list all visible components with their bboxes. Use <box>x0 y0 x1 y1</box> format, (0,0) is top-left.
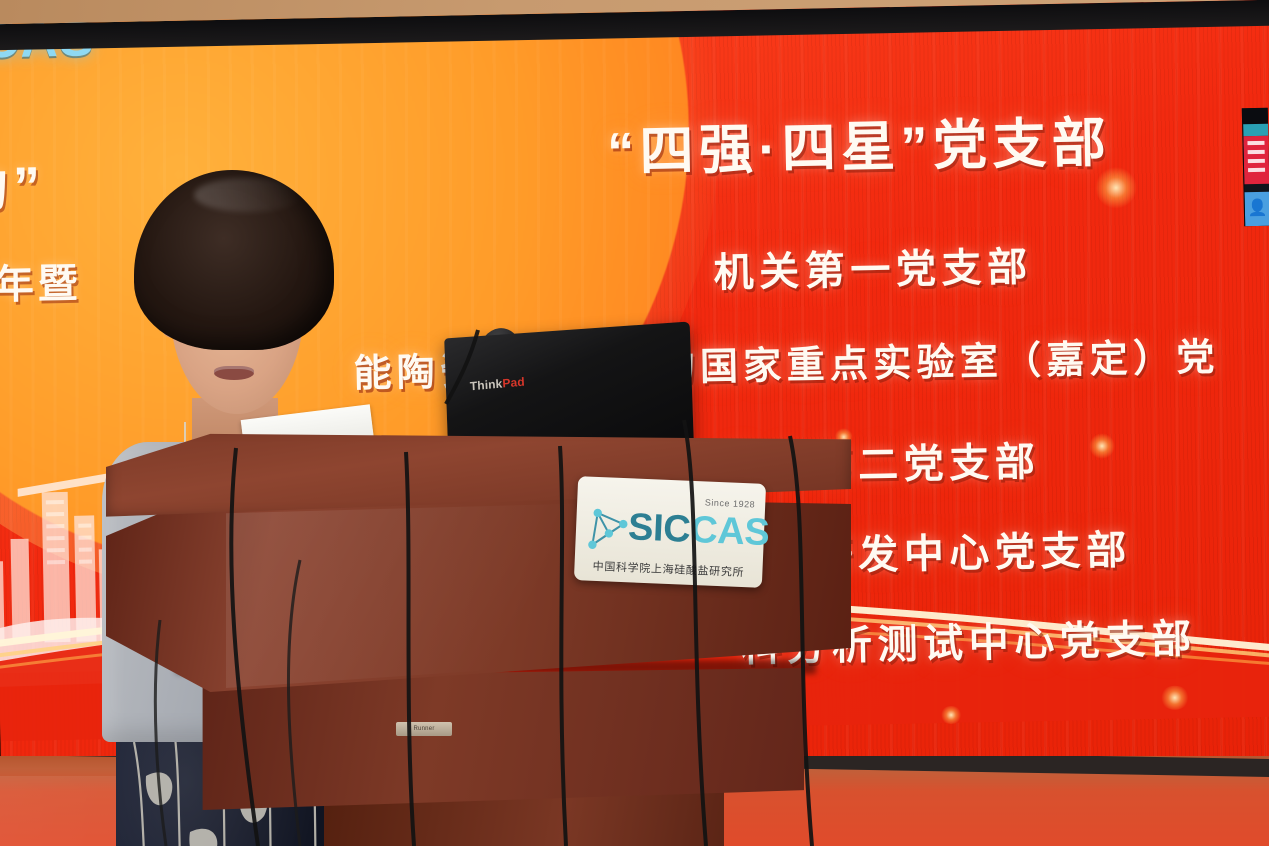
plaque-since-label: Since 1928 <box>705 497 756 509</box>
backdrop-line-1: 机关第一党支部 <box>713 234 1033 298</box>
conference-photo-scene: “四强·四星”党支部 机关第一党支部 能陶瓷和超微结构国家重点实验室（嘉定）党 … <box>0 0 1269 846</box>
aux-panel-footer: 👤 <box>1245 192 1269 227</box>
person-icon: 👤 <box>1247 201 1267 217</box>
lectern-podium: Runner Since 1928 SICCAS 中国科学院上海硅酸盐研究所 <box>106 432 851 846</box>
aux-panel-header <box>1243 108 1268 125</box>
plaque-institute-name: 中国科学院上海硅酸盐研究所 <box>582 557 755 580</box>
backdrop-left-fragment-2: 周年暨 <box>0 251 82 312</box>
podium-nameplate: Runner <box>396 722 452 736</box>
aux-panel-teal-band <box>1243 124 1268 137</box>
laptop-brand-label: ThinkPad <box>470 375 526 394</box>
speaker-hair <box>134 170 334 350</box>
backdrop-headline: “四强·四星”党支部 <box>606 98 1111 187</box>
plaque-brand: SICCAS <box>627 508 770 552</box>
podium-lower-panel <box>184 668 804 810</box>
auxiliary-display-panel: 👤 <box>1242 108 1269 227</box>
siccas-plaque: Since 1928 SICCAS 中国科学院上海硅酸盐研究所 <box>574 476 766 588</box>
speaker-mouth <box>214 366 254 380</box>
backdrop-left-fragment-1: 功” <box>0 141 46 222</box>
aux-panel-red-band <box>1243 136 1269 185</box>
